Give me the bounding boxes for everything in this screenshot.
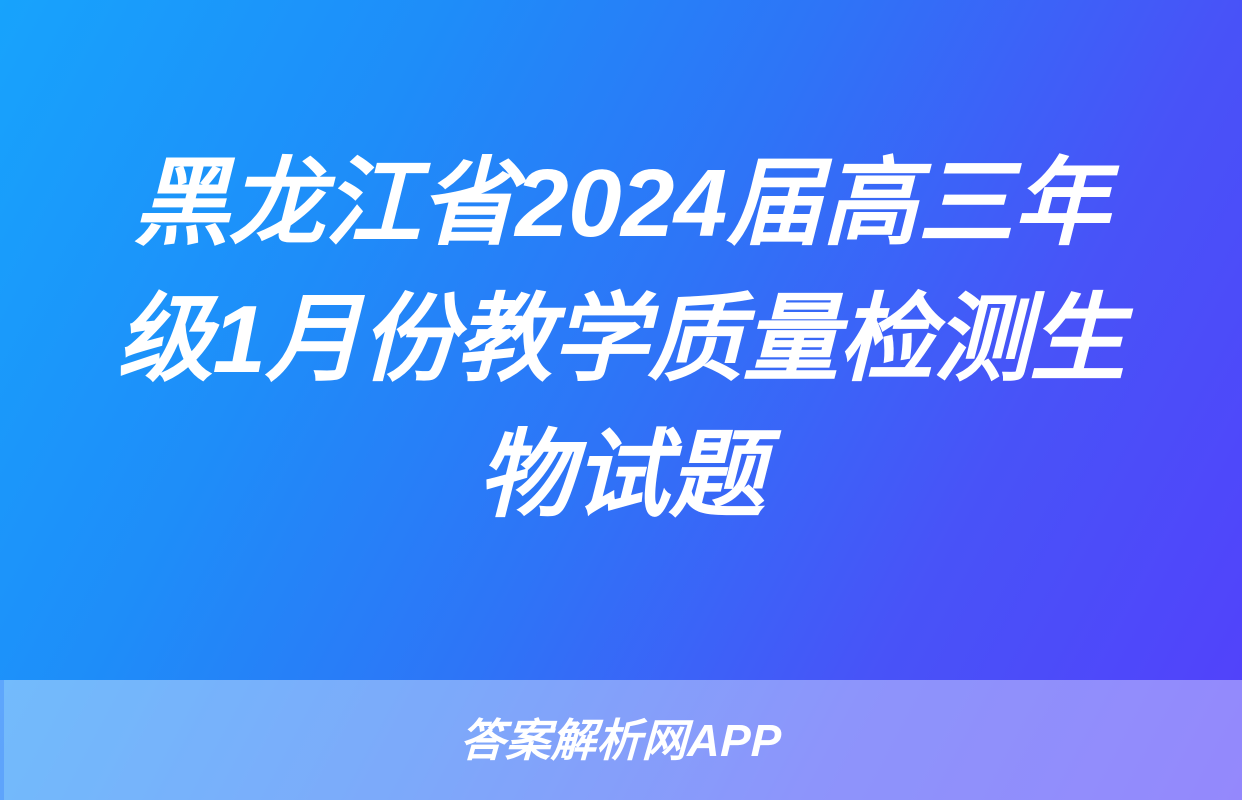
page-title: 黑龙江省2024届高三年级1月份教学质量检测生物试题 <box>92 136 1150 545</box>
band-left-edge <box>0 680 4 800</box>
watermark-band: 答案解析网APP <box>0 680 1242 800</box>
title-area: 黑龙江省2024届高三年级1月份教学质量检测生物试题 <box>0 0 1242 680</box>
poster-canvas: 黑龙江省2024届高三年级1月份教学质量检测生物试题 答案解析网APP <box>0 0 1242 800</box>
app-watermark: 答案解析网APP <box>459 718 782 763</box>
